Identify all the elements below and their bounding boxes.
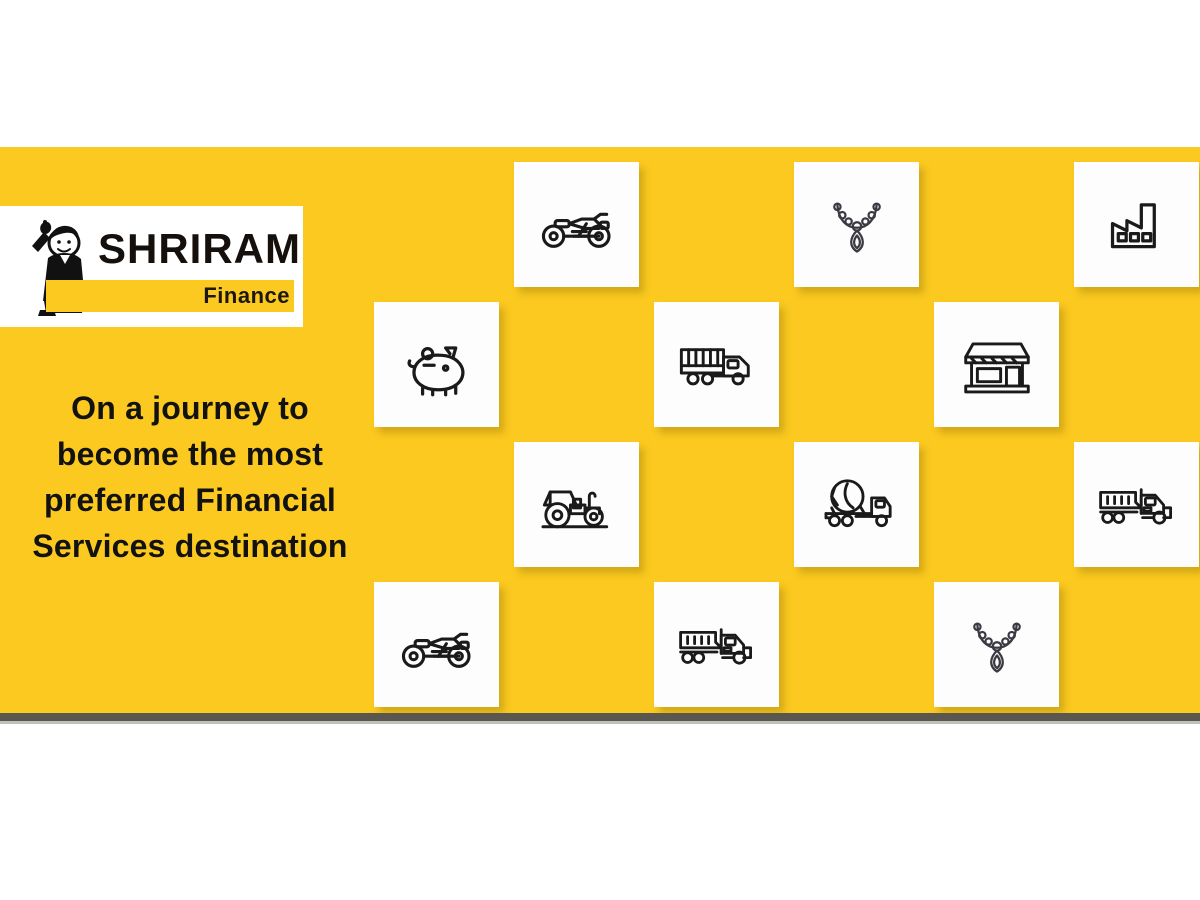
storefront-icon [957, 332, 1037, 398]
icon-tile-cargo-truck[interactable] [654, 302, 779, 427]
necklace-icon [822, 190, 892, 260]
tagline-text: On a journey to become the most preferre… [30, 385, 350, 569]
icon-tile-dump-truck[interactable] [654, 582, 779, 707]
brand-logo-card[interactable]: SHRIRAM Finance [0, 206, 303, 327]
icon-tile-motorcycle[interactable] [514, 162, 639, 287]
icon-tile-motorcycle[interactable] [374, 582, 499, 707]
icon-tile-necklace[interactable] [794, 162, 919, 287]
necklace-icon [962, 610, 1032, 680]
motorcycle-icon [538, 197, 616, 252]
factory-icon [1101, 189, 1173, 261]
yellow-banner: SHRIRAM Finance On a journey to become t… [0, 147, 1200, 713]
banner-image: SHRIRAM Finance On a journey to become t… [0, 0, 1200, 900]
icon-tile-storefront[interactable] [934, 302, 1059, 427]
dump-truck-icon [1095, 477, 1179, 533]
tractor-icon [537, 476, 617, 534]
icon-tile-necklace[interactable] [934, 582, 1059, 707]
icon-tile-factory[interactable] [1074, 162, 1199, 287]
icon-tile-dump-truck[interactable] [1074, 442, 1199, 567]
brand-sub-name: Finance [46, 282, 290, 310]
banner-bottom-bar [0, 713, 1200, 721]
banner-bottom-bar-shadow [0, 721, 1200, 724]
cargo-truck-icon [677, 339, 757, 391]
dump-truck-icon [675, 617, 759, 673]
icon-tile-piggy-bank[interactable] [374, 302, 499, 427]
icon-tile-tractor[interactable] [514, 442, 639, 567]
brand-name: SHRIRAM [98, 226, 294, 272]
icon-tile-cement-mixer[interactable] [794, 442, 919, 567]
piggy-bank-icon [401, 332, 473, 397]
cement-mixer-icon [816, 476, 898, 534]
motorcycle-icon [398, 617, 476, 672]
